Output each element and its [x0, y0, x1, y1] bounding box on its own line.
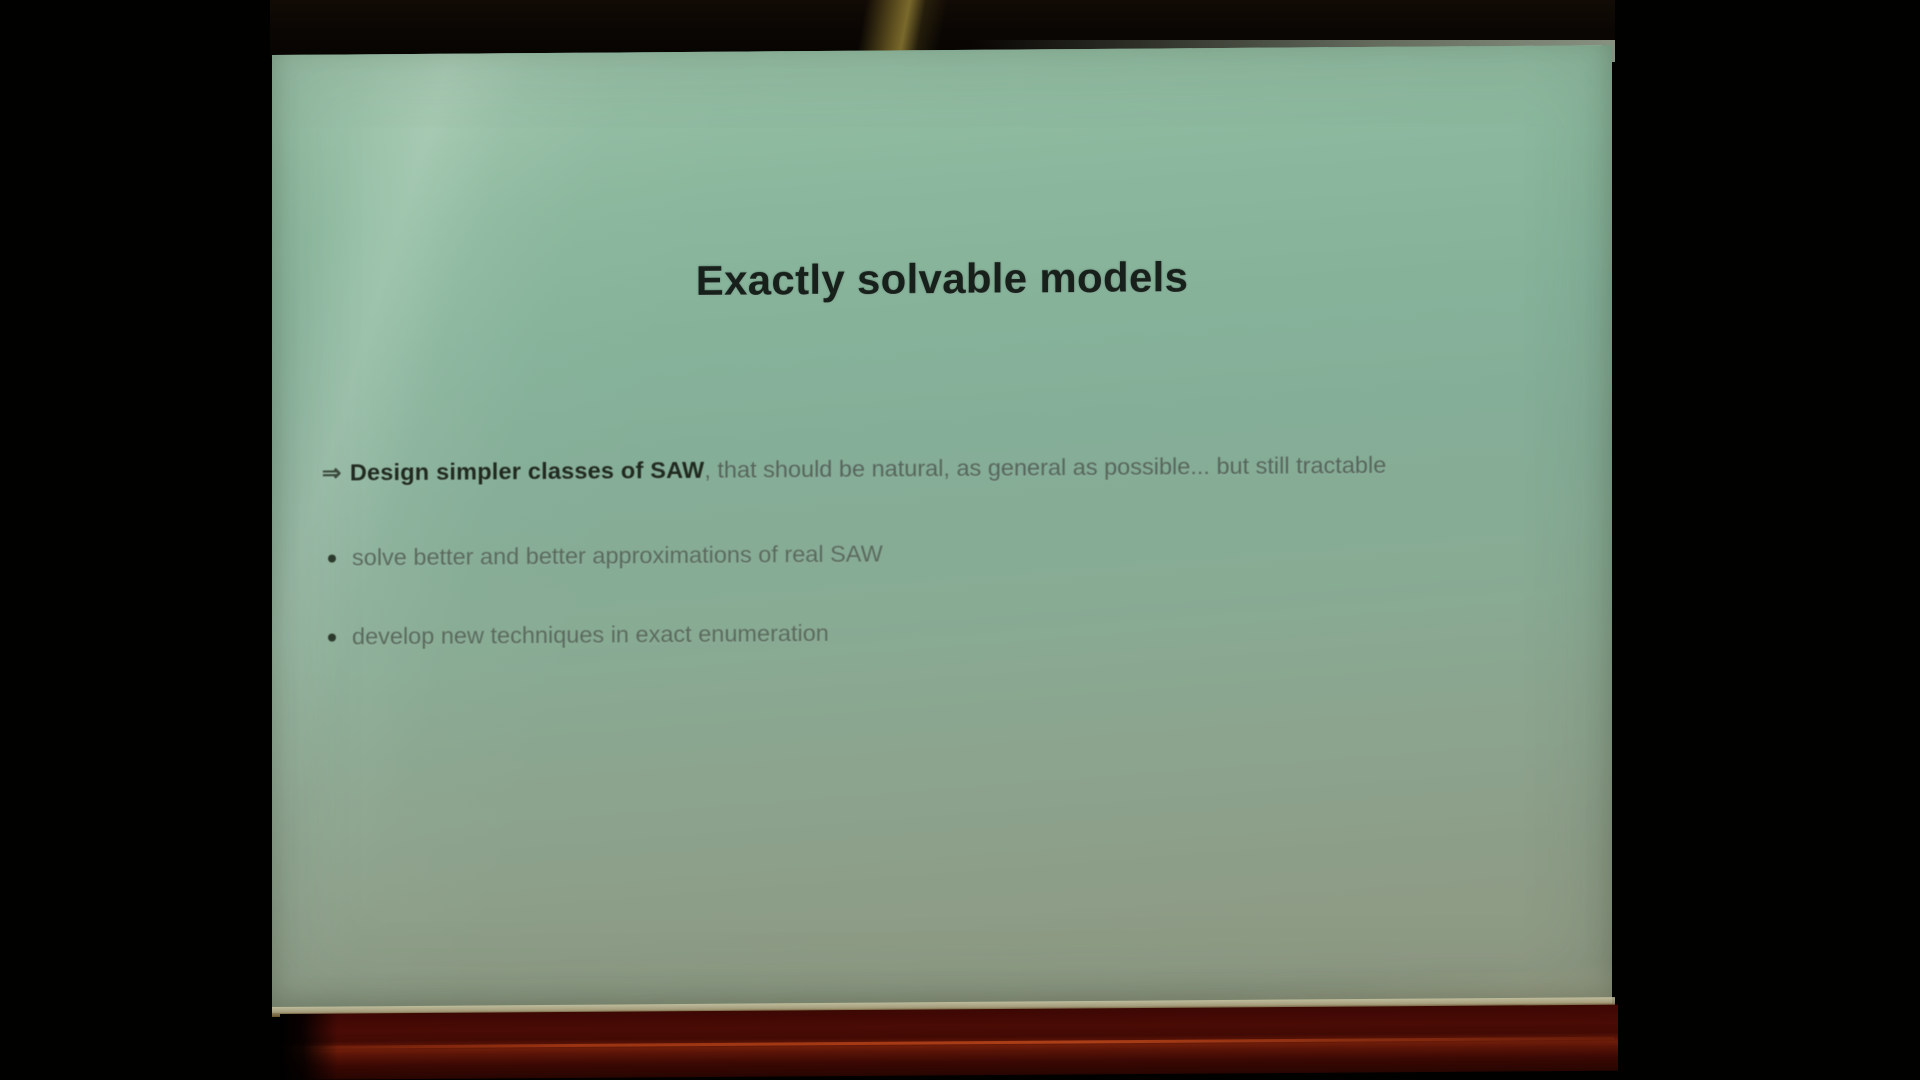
list-item: develop new techniques in exact enumerat…	[322, 611, 1574, 652]
bullet-text: develop new techniques in exact enumerat…	[352, 620, 829, 649]
lecture-room-frame: Exactly solvable models ⇒ Design simpler…	[0, 0, 1920, 1080]
paragraph-rest: , that should be natural, as general as …	[704, 452, 1386, 483]
paragraph-bold-lead: Design simpler classes of SAW	[350, 457, 705, 486]
slide-content: Exactly solvable models ⇒ Design simpler…	[272, 45, 1612, 1013]
panel-left-shadow	[280, 1014, 338, 1080]
slide-title: Exactly solvable models	[272, 250, 1612, 308]
list-item: solve better and better approximations o…	[322, 532, 1574, 573]
slide-paragraph: ⇒ Design simpler classes of SAW, that sh…	[322, 441, 1574, 495]
bullet-list: solve better and better approximations o…	[322, 532, 1574, 652]
double-arrow-icon: ⇒	[322, 459, 343, 485]
bullet-text: solve better and better approximations o…	[352, 541, 883, 571]
projection-screen: Exactly solvable models ⇒ Design simpler…	[272, 45, 1612, 1013]
slide-body: ⇒ Design simpler classes of SAW, that sh…	[322, 441, 1574, 699]
